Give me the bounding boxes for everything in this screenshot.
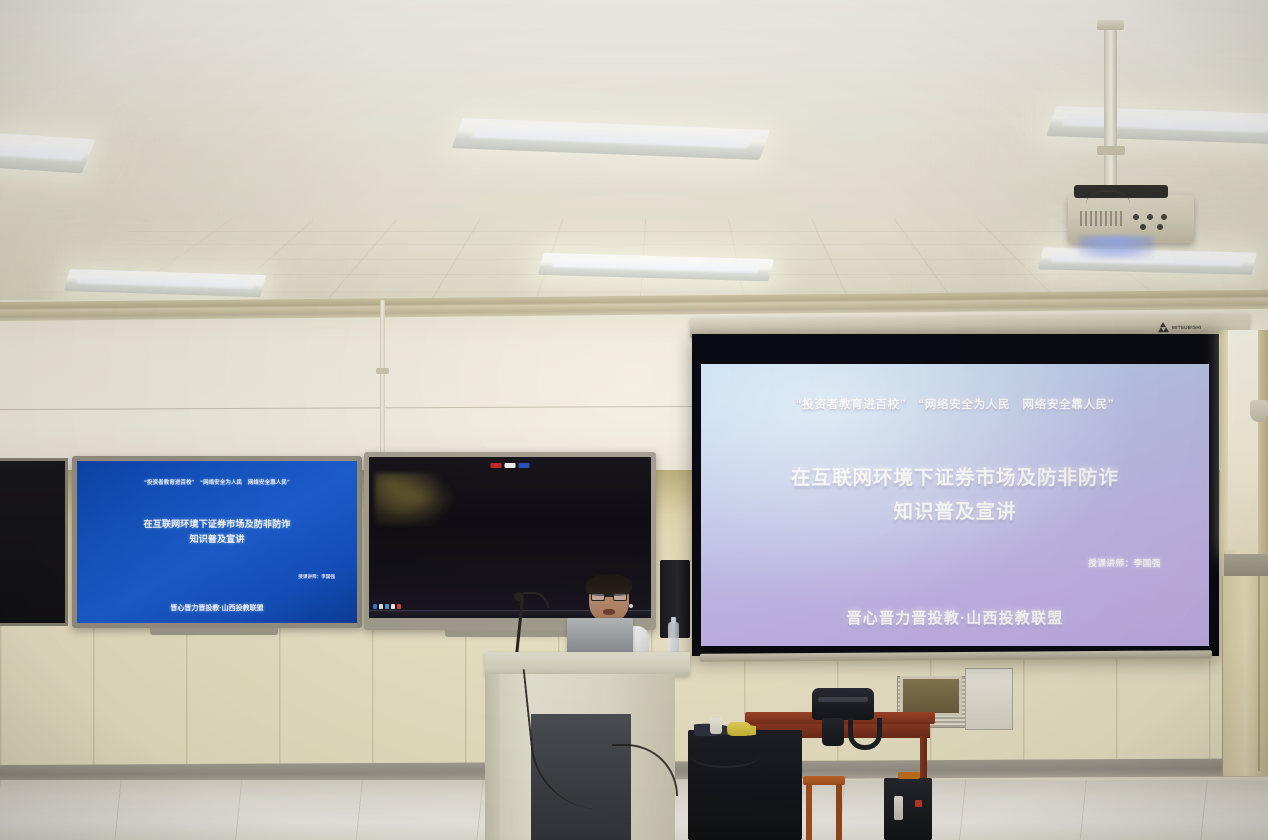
- mitsubishi-logo: MITSUBISHI: [1158, 322, 1202, 332]
- stool-leg: [806, 784, 812, 840]
- water-bottle: [668, 622, 679, 656]
- center-display-stand: [445, 630, 575, 637]
- slide-organization: 晋心晋力晋投教·山西投教联盟: [701, 607, 1209, 628]
- projection-screen: “投资者教育进百校” “网络安全为人民 网络安全靠人民” 在互联网环境下证券市场…: [692, 334, 1219, 656]
- display-taskbar-icons[interactable]: [373, 604, 401, 609]
- column-edge-line: [1258, 576, 1260, 771]
- left-slide-presenter: 授课讲师：李国强: [298, 574, 335, 580]
- glasses-icon: [591, 593, 627, 601]
- paper-cup: [710, 718, 722, 734]
- equipment-case-handle[interactable]: [898, 772, 920, 779]
- projected-slide: “投资者教育进百校” “网络安全为人民 网络安全靠人民” 在互联网环境下证券市场…: [701, 364, 1209, 646]
- left-monitor-screen: “投资者教育进百校” “网络安全为人民 网络安全靠人民” 在互联网环境下证券市场…: [77, 461, 357, 623]
- projector-vent: [1080, 211, 1122, 226]
- wall-vent-panel: [965, 668, 1013, 730]
- stool-leg: [836, 784, 842, 840]
- wall-camera-dome: [1250, 400, 1268, 422]
- slide-header: “投资者教育进百校” “网络安全为人民 网络安全靠人民”: [701, 396, 1209, 412]
- left-slide-header: “投资者教育进百校” “网络安全为人民 网络安全靠人民”: [77, 478, 357, 486]
- equipment-indicator-light: [915, 800, 922, 807]
- slide-title-line1: 在互联网环境下证券市场及防非防诈: [701, 461, 1209, 495]
- window-frame-left: [1220, 330, 1228, 560]
- display-top-indicator: [491, 463, 530, 468]
- projector-mount-pole: [1104, 26, 1117, 196]
- projector-lens-glow: [1078, 236, 1154, 258]
- left-slide-title-line1: 在互联网环境下证券市场及防非防诈: [77, 517, 357, 532]
- cart-cable: [690, 742, 760, 768]
- wall-picture-frame: [900, 676, 962, 716]
- presenter-mouth: [603, 609, 615, 615]
- yellow-item: [727, 722, 751, 736]
- equipment-case: [884, 778, 932, 840]
- left-slide-organization: 晋心晋力晋投教·山西投教联盟: [77, 603, 357, 613]
- window-light-strip: [1228, 330, 1258, 550]
- wall-vertical-pole: [380, 300, 385, 470]
- projector-mount-joint: [1097, 146, 1125, 155]
- column-band: [1224, 554, 1268, 576]
- slide-title: 在互联网环境下证券市场及防非防诈 知识普及宣讲: [701, 461, 1209, 529]
- left-edge-display[interactable]: [0, 458, 68, 626]
- projector-cable: [1086, 190, 1130, 204]
- slide-title-line2: 知识普及宣讲: [701, 495, 1209, 529]
- black-bag: [812, 688, 874, 720]
- left-slide-title: 在互联网环境下证券市场及防非防诈 知识普及宣讲: [77, 517, 357, 547]
- bag-pocket: [822, 718, 844, 746]
- podium-side: [485, 674, 501, 840]
- wall-column: [1222, 576, 1268, 776]
- left-monitor-stand: [150, 628, 278, 635]
- lecture-hall-photo: “投资者教育进百校” “网络安全为人民 网络安全靠人民” 在互联网环境下证券市场…: [0, 0, 1268, 840]
- left-monitor[interactable]: “投资者教育进百校” “网络安全为人民 网络安全靠人民” 在互联网环境下证券市场…: [72, 456, 362, 628]
- wooden-stool: [803, 776, 845, 840]
- ceiling-light-fixture: [0, 133, 95, 174]
- brand-label: MITSUBISHI: [1172, 324, 1202, 329]
- bag-strap: [848, 718, 882, 750]
- window-frame-right: [1258, 330, 1268, 560]
- equipment-bottle: [894, 796, 903, 820]
- left-slide-title-line2: 知识普及宣讲: [77, 532, 357, 547]
- screen-reflection: [375, 473, 455, 525]
- slide-presenter: 授课讲师：李国强: [1088, 557, 1161, 569]
- projector-ports: [1130, 212, 1182, 232]
- laptop[interactable]: [567, 618, 633, 654]
- mitsubishi-triangle-icon: [1158, 322, 1169, 332]
